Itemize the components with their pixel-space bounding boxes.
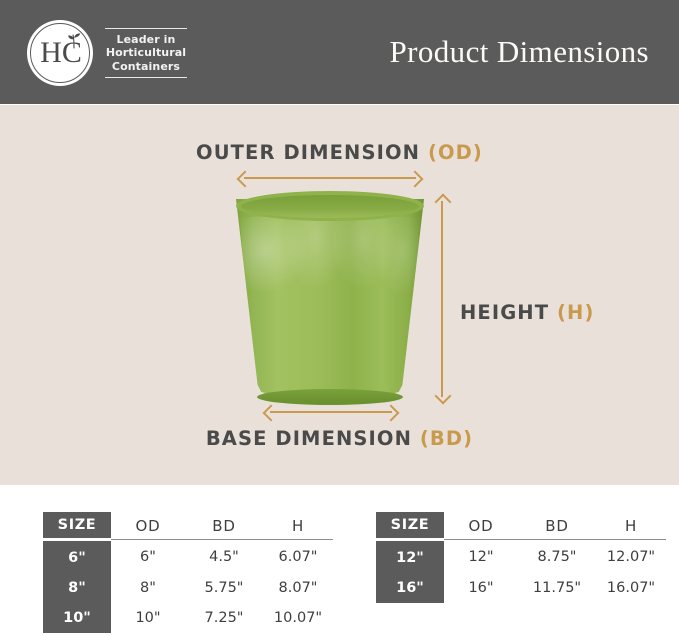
base-dimension-label-text: BASE DIMENSION: [206, 427, 420, 450]
table-row: 16" 16" 11.75" 16.07": [376, 573, 666, 603]
tagline-line-3: Containers: [105, 60, 187, 74]
outer-dimension-label-text: OUTER DIMENSION: [196, 141, 428, 164]
tagline-line-1: Leader in: [105, 33, 187, 47]
base-dimension-arrow-icon: [264, 405, 398, 418]
height-code: (H): [557, 301, 594, 324]
arrow-shaft: [270, 411, 392, 413]
pot-rim-inner: [241, 195, 419, 218]
cell-size: 6": [43, 540, 111, 574]
planter-pot-illustration: [236, 191, 424, 401]
cell-size: 8": [43, 573, 111, 603]
table-row: 12" 12" 8.75" 12.07": [376, 540, 666, 574]
tagline-line-2: Horticultural: [105, 46, 187, 60]
brand-logo: HC Leader in Horticultural Containers: [27, 20, 197, 86]
cell-bd: 4.5": [185, 540, 263, 574]
outer-dimension-code: (OD): [428, 141, 483, 164]
cell-bd: 11.75": [518, 573, 596, 603]
size-table-large: SIZE OD BD H 12" 12" 8.75" 12.07" 16" 16…: [376, 512, 666, 603]
base-dimension-code: (BD): [420, 427, 473, 450]
column-header-h: H: [596, 512, 666, 540]
cell-bd: 8.75": [518, 540, 596, 574]
cell-size: 16": [376, 573, 444, 603]
cell-od: 8": [111, 573, 185, 603]
table-row: 8" 8" 5.75" 8.07": [43, 573, 333, 603]
column-header-od: OD: [444, 512, 518, 540]
height-label-text: HEIGHT: [460, 301, 557, 324]
cell-od: 6": [111, 540, 185, 574]
cell-h: 8.07": [263, 573, 333, 603]
table-header-row: SIZE OD BD H: [376, 512, 666, 540]
cell-od: 12": [444, 540, 518, 574]
height-arrow-icon: [435, 195, 448, 403]
table-header: SIZE OD BD H: [376, 512, 666, 540]
outer-dimension-label: OUTER DIMENSION (OD): [0, 141, 679, 164]
cell-h: 10.07": [263, 603, 333, 633]
pot-body: [236, 199, 424, 399]
column-header-bd: BD: [518, 512, 596, 540]
table: SIZE OD BD H 6" 6" 4.5" 6.07" 8" 8" 5.75…: [43, 512, 333, 633]
column-header-bd: BD: [185, 512, 263, 540]
pot-base: [257, 389, 403, 405]
cell-bd: 7.25": [185, 603, 263, 633]
arrow-shaft: [441, 201, 443, 397]
cell-h: 6.07": [263, 540, 333, 574]
table-row: 6" 6" 4.5" 6.07": [43, 540, 333, 574]
cell-h: 16.07": [596, 573, 666, 603]
table-body: 12" 12" 8.75" 12.07" 16" 16" 11.75" 16.0…: [376, 540, 666, 604]
brand-tagline: Leader in Horticultural Containers: [105, 28, 187, 79]
size-table-small: SIZE OD BD H 6" 6" 4.5" 6.07" 8" 8" 5.75…: [43, 512, 333, 633]
table: SIZE OD BD H 12" 12" 8.75" 12.07" 16" 16…: [376, 512, 666, 603]
header-bar: HC Leader in Horticultural Containers Pr…: [0, 0, 679, 104]
column-header-size: SIZE: [43, 512, 111, 540]
column-header-od: OD: [111, 512, 185, 540]
column-header-h: H: [263, 512, 333, 540]
leaf-sprig-icon: [65, 33, 83, 49]
table-header: SIZE OD BD H: [43, 512, 333, 540]
page-title: Product Dimensions: [390, 34, 650, 70]
cell-od: 16": [444, 573, 518, 603]
cell-od: 10": [111, 603, 185, 633]
arrow-shaft: [244, 177, 416, 179]
base-dimension-label: BASE DIMENSION (BD): [0, 427, 679, 450]
cell-bd: 5.75": [185, 573, 263, 603]
cell-h: 12.07": [596, 540, 666, 574]
table-body: 6" 6" 4.5" 6.07" 8" 8" 5.75" 8.07" 10" 1…: [43, 540, 333, 634]
cell-size: 12": [376, 540, 444, 574]
pot-rim: [236, 191, 424, 221]
diagram-panel: OUTER DIMENSION (OD) HEIGHT (H) BASE DIM…: [0, 105, 679, 485]
cell-size: 10": [43, 603, 111, 633]
table-row: 10" 10" 7.25" 10.07": [43, 603, 333, 633]
column-header-size: SIZE: [376, 512, 444, 540]
outer-dimension-arrow-icon: [238, 171, 422, 184]
height-label: HEIGHT (H): [460, 301, 594, 324]
table-header-row: SIZE OD BD H: [43, 512, 333, 540]
logo-circle-mark: HC: [27, 20, 93, 86]
